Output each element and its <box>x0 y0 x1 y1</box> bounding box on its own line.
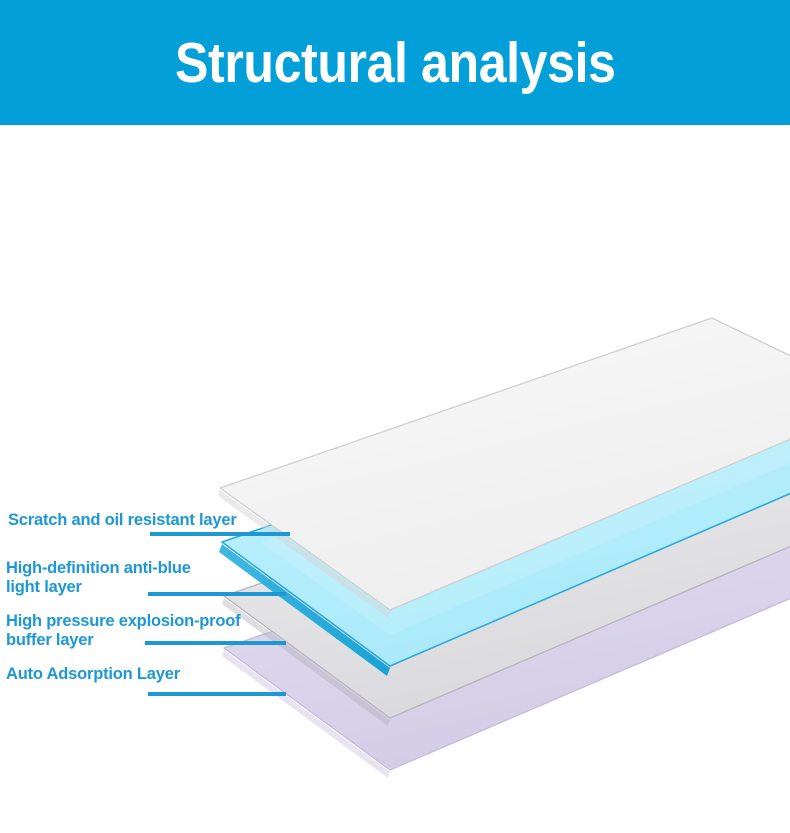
layer-stack-illustration: Scratch and oil resistant layer High-def… <box>0 125 790 833</box>
product-infographic-page: Structural analysis <box>0 0 790 833</box>
callout-auto-adsorption-layer: Auto Adsorption Layer <box>6 665 306 684</box>
leader-line-scratch-and-oil-resistant-layer <box>150 532 290 536</box>
callout-label-line1: Scratch and oil resistant layer <box>8 511 308 530</box>
leader-line-high-pressure-explosion-proof-buffer-layer <box>145 641 286 645</box>
header-banner: Structural analysis <box>0 0 790 125</box>
layer-stack-svg <box>0 125 790 833</box>
callout-scratch-and-oil-resistant-layer: Scratch and oil resistant layer <box>8 511 308 530</box>
page-title: Structural analysis <box>175 35 615 92</box>
leader-line-auto-adsorption-layer <box>148 692 286 696</box>
callout-label-line1: High-definition anti-blue <box>6 559 306 578</box>
callout-label-line1: High pressure explosion-proof <box>6 612 306 631</box>
callout-label-line1: Auto Adsorption Layer <box>6 665 306 684</box>
leader-line-high-definition-anti-blue-light-layer <box>148 592 286 596</box>
